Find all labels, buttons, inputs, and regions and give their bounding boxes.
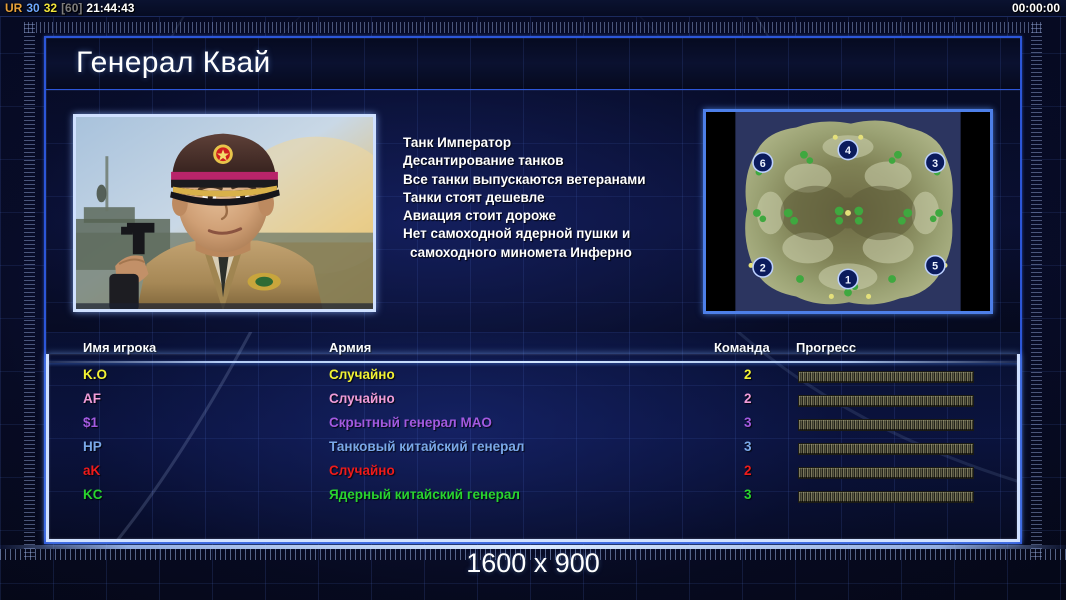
player-progress-bar — [798, 419, 974, 431]
svg-text:1: 1 — [845, 274, 851, 286]
header-player-name: Имя игрока — [83, 340, 156, 355]
header-team: Команда — [714, 340, 770, 355]
player-team: 2 — [744, 391, 752, 406]
player-progress-bar — [798, 395, 974, 407]
header-divider — [46, 361, 1020, 363]
player-army: Случайно — [329, 367, 395, 382]
player-army: Ядерный китайский генерал — [329, 487, 520, 502]
player-table-header: Имя игрока Армия Команда Прогресс — [46, 340, 1020, 362]
table-row[interactable]: aK Случайно 2 — [46, 463, 1020, 487]
table-row[interactable]: HP Танковый китайский генерал 3 — [46, 439, 1020, 463]
ability-line: самоходного миномета Инферно — [403, 244, 713, 262]
player-progress-bar — [798, 443, 974, 455]
table-row[interactable]: KC Ядерный китайский генерал 3 — [46, 487, 1020, 511]
ability-line: Авиация стоит дороже — [403, 207, 713, 225]
ability-line: Танки стоят дешевле — [403, 189, 713, 207]
player-army: Танковый китайский генерал — [329, 439, 525, 454]
player-name: $1 — [83, 415, 98, 430]
hud-bar: UR3032[60]21:44:43 00:00:00 — [0, 0, 1066, 17]
svg-text:6: 6 — [760, 158, 766, 170]
title-bar: Генерал Квай — [46, 38, 1020, 89]
game-screen: UR3032[60]21:44:43 00:00:00 Генерал Квай — [0, 0, 1066, 600]
hud-timer: 00:00:00 — [1012, 0, 1060, 17]
table-row[interactable]: AF Случайно 2 — [46, 391, 1020, 415]
map-preview-frame[interactable]: 6 4 3 2 1 — [703, 109, 993, 314]
general-portrait-image — [76, 117, 373, 311]
player-team: 2 — [744, 367, 752, 382]
player-name: aK — [83, 463, 100, 478]
hud-fps: 30 — [26, 1, 39, 15]
ruler-right — [1031, 24, 1042, 558]
player-progress-bar — [798, 467, 974, 479]
svg-text:3: 3 — [932, 158, 938, 170]
general-info-panel: Танк Император Десантирование танков Все… — [46, 90, 1020, 332]
player-list-panel: Имя игрока Армия Команда Прогресс K.O Сл… — [46, 332, 1020, 542]
hud-tick-max: [60] — [61, 1, 82, 15]
player-team: 3 — [744, 415, 752, 430]
svg-text:5: 5 — [932, 261, 938, 273]
player-name: K.O — [83, 367, 107, 382]
general-abilities-list: Танк Император Десантирование танков Все… — [403, 134, 713, 262]
ability-line: Нет самоходной ядерной пушки и — [403, 225, 713, 243]
ability-line: Все танки выпускаются ветеранами — [403, 171, 713, 189]
hud-mode-label: UR — [5, 1, 22, 15]
player-army: Скрытный генерал МАО — [329, 415, 492, 430]
player-team: 3 — [744, 439, 752, 454]
ability-line: Танк Император — [403, 134, 713, 152]
svg-text:2: 2 — [760, 263, 766, 275]
resolution-label: 1600 x 900 — [0, 548, 1066, 579]
player-army: Случайно — [329, 463, 395, 478]
svg-text:4: 4 — [845, 145, 851, 157]
player-name: AF — [83, 391, 101, 406]
map-preview-image: 6 4 3 2 1 — [706, 112, 990, 311]
header-progress: Прогресс — [796, 340, 856, 355]
player-team: 3 — [744, 487, 752, 502]
page-title: Генерал Квай — [76, 46, 271, 80]
header-army: Армия — [329, 340, 371, 355]
ruler-left — [24, 24, 35, 558]
hud-clock: 21:44:43 — [86, 1, 134, 15]
hud-tick: 32 — [44, 1, 57, 15]
player-progress-bar — [798, 371, 974, 383]
table-row[interactable]: $1 Скрытный генерал МАО 3 — [46, 415, 1020, 439]
player-name: KC — [83, 487, 103, 502]
player-team: 2 — [744, 463, 752, 478]
table-row[interactable]: K.O Случайно 2 — [46, 367, 1020, 391]
ability-line: Десантирование танков — [403, 152, 713, 170]
player-progress-bar — [798, 491, 974, 503]
ruler-top — [24, 22, 1042, 33]
general-portrait-frame — [73, 114, 376, 312]
player-army: Случайно — [329, 391, 395, 406]
player-name: HP — [83, 439, 102, 454]
